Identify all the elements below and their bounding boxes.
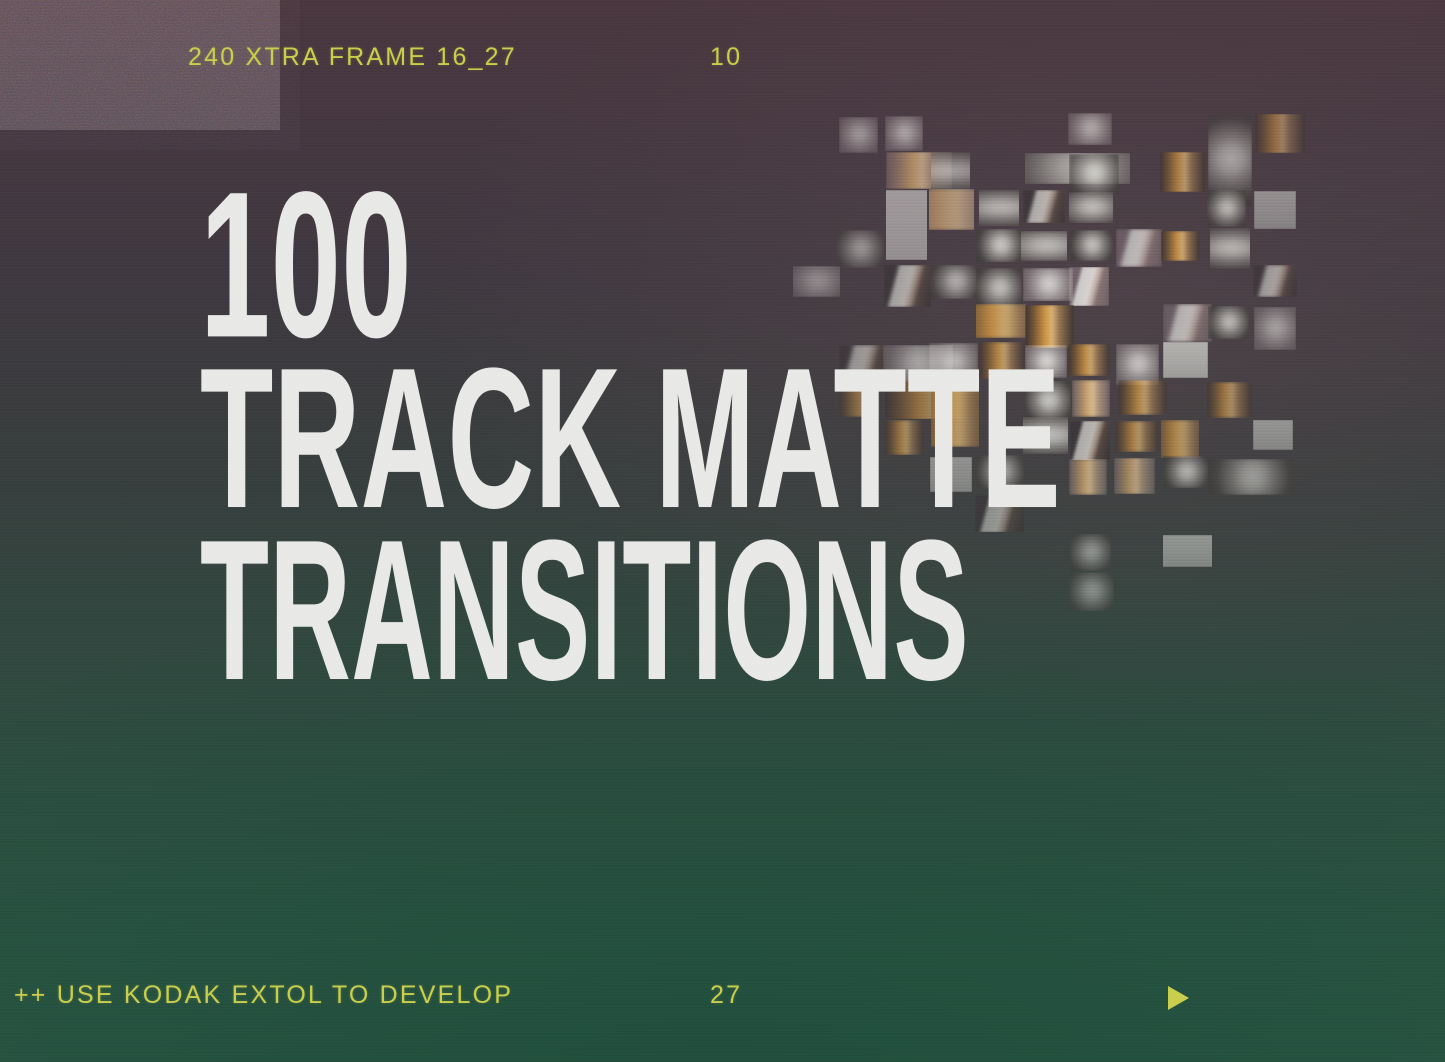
headline-line-count: 100 — [200, 180, 1090, 351]
play-triangle-icon — [1168, 986, 1189, 1010]
film-frame-number-top: 10 — [710, 43, 742, 72]
headline-line-transitions: TRANSITIONS — [200, 529, 1011, 693]
film-frame-number-bottom: 27 — [710, 981, 742, 1010]
film-frame-label: 240 XTRA FRAME 16_27 — [188, 43, 517, 72]
film-develop-note: ++ USE KODAK EXTOL TO DEVELOP — [14, 981, 513, 1010]
poster-headline: 100 TRACK MATTE TRANSITIONS — [200, 182, 1445, 693]
headline-line-track-matte: TRACK MATTE — [200, 357, 1061, 521]
poster-canvas: 100 TRACK MATTE TRANSITIONS 240 XTRA FRA… — [0, 0, 1445, 1062]
